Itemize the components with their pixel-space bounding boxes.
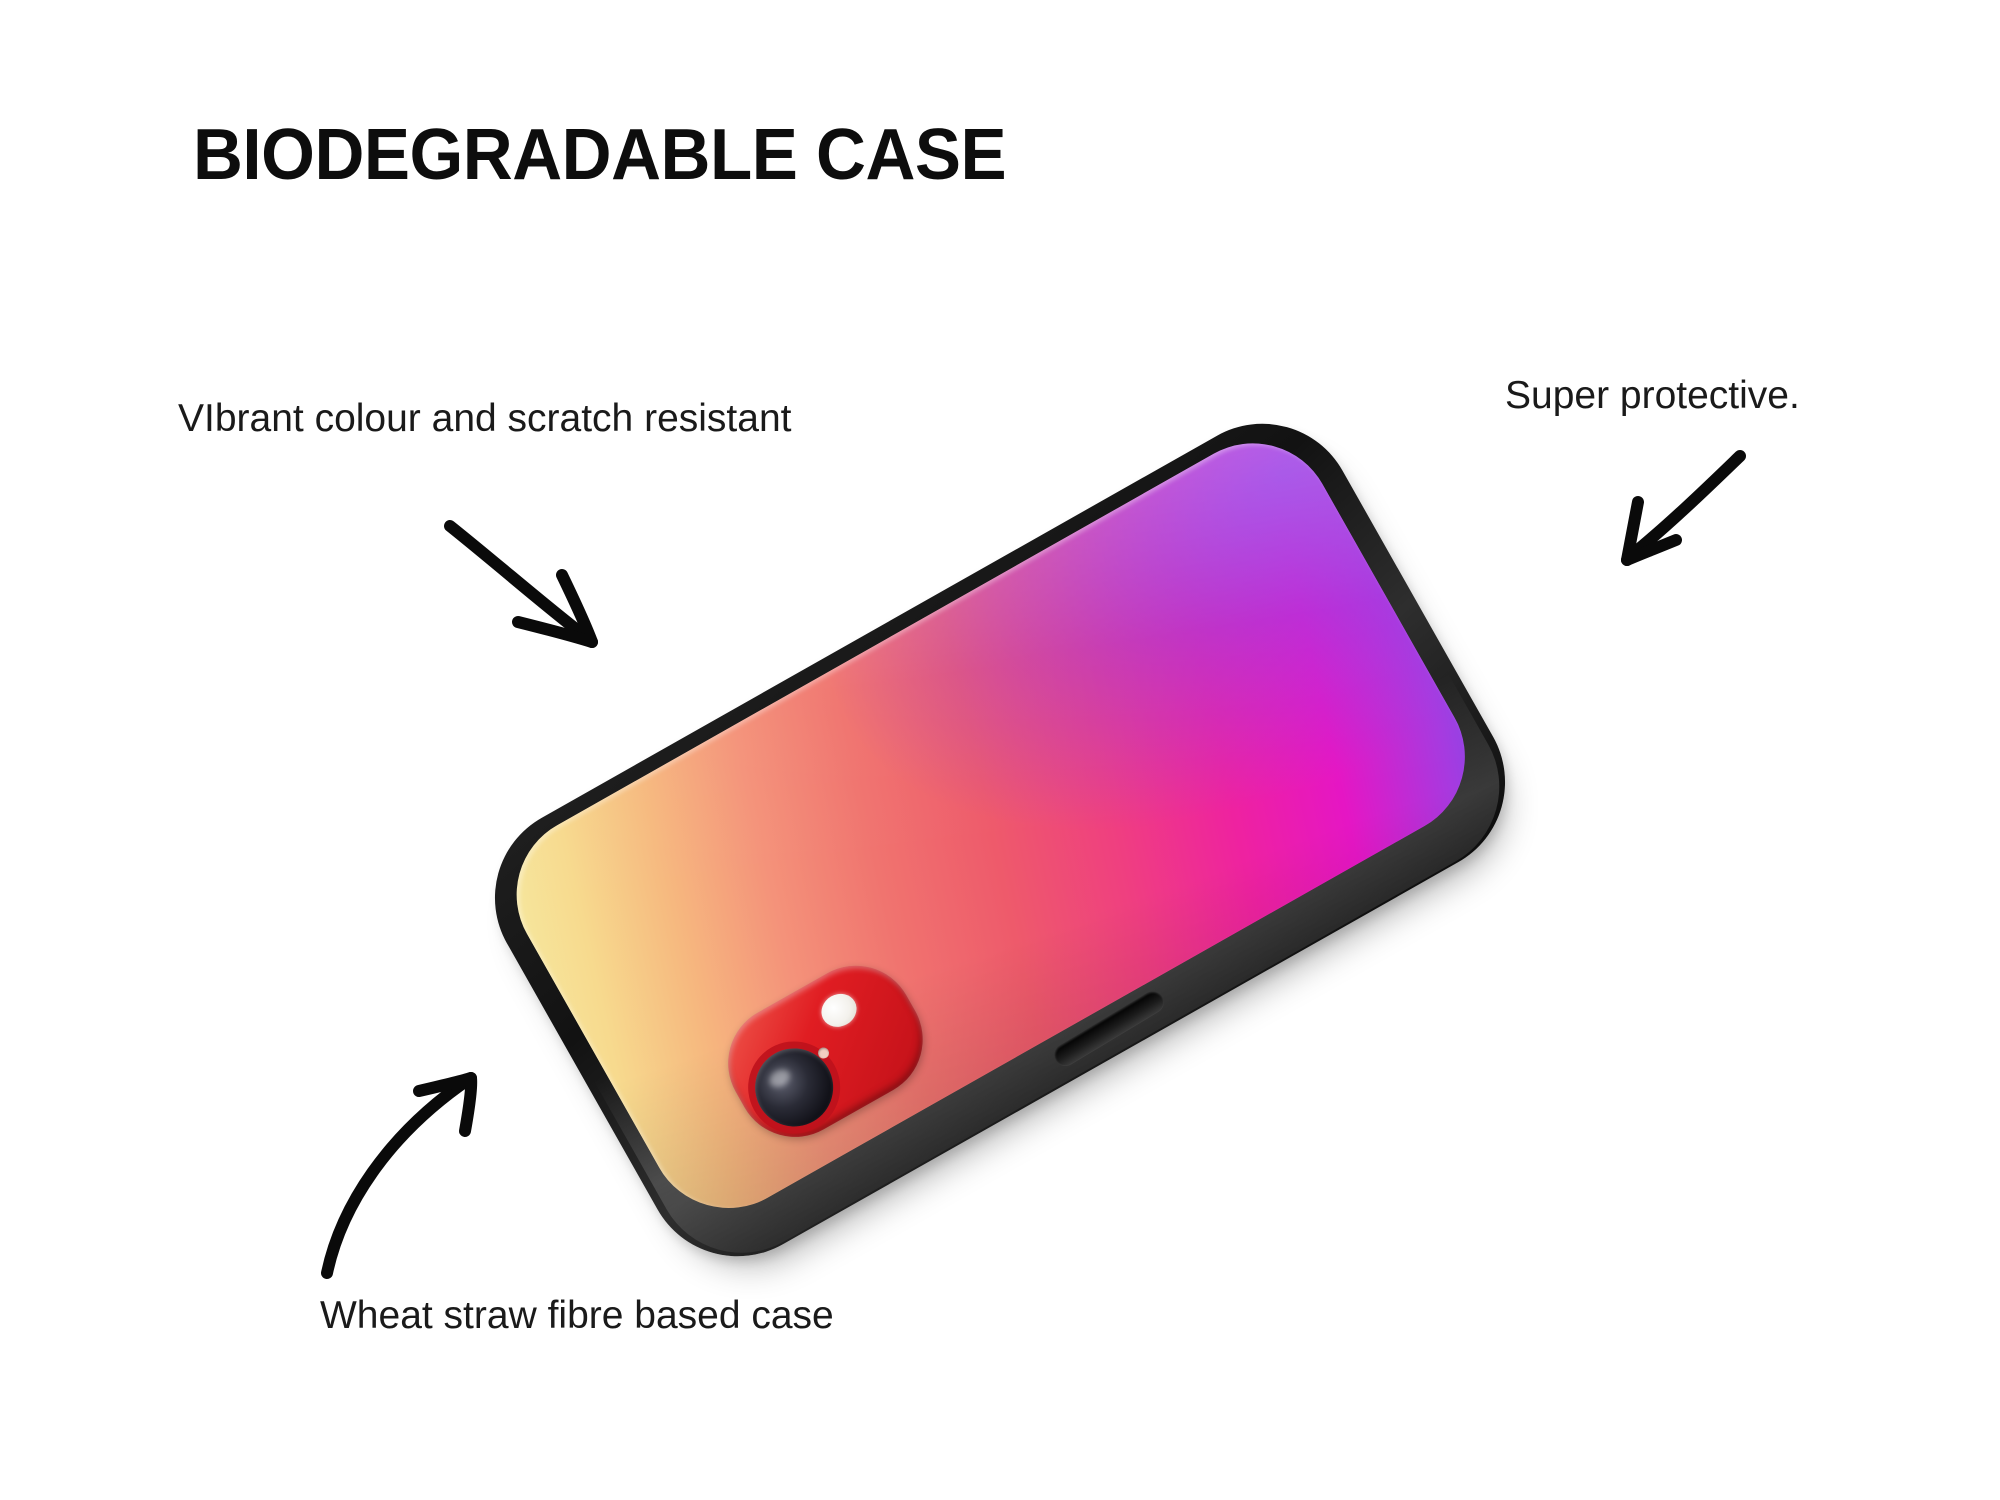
camera-flash-icon [815, 988, 862, 1034]
arrow-down-left-icon [1600, 430, 1820, 630]
page-title: BIODEGRADABLE CASE [193, 119, 1006, 191]
product-infographic-canvas: BIODEGRADABLE CASE VIbrant colour and sc… [0, 0, 2000, 1500]
arrow-down-right-icon [440, 518, 670, 718]
camera-lens-icon [741, 1034, 847, 1140]
arrow-up-right-curved-icon [305, 1055, 535, 1315]
callout-vibrant-colour: VIbrant colour and scratch resistant [178, 393, 838, 445]
callout-super-protective: Super protective. [1505, 370, 2000, 422]
